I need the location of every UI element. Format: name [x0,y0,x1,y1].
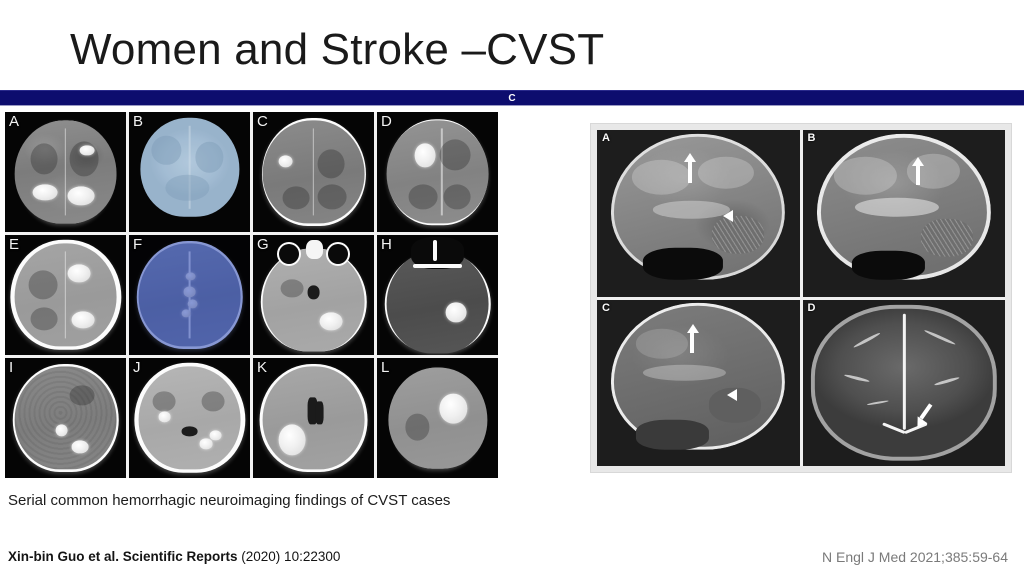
sulcus-icon [409,184,438,209]
transverse-sinus-icon [882,422,906,434]
brain-parenchyma [262,120,365,223]
petrous-bone-icon [413,264,461,268]
skull-base-region [636,420,709,449]
page-title: Women and Stroke –CVST [70,24,604,77]
sulcus-icon [281,279,304,298]
ct-panel-g: G [253,235,374,355]
ct-panel-grid: A B C [5,112,498,478]
brain-parenchyma [138,366,241,469]
arrowhead-icon [723,210,733,222]
gyrus-icon [698,157,754,189]
sulcus-icon [31,143,58,174]
sulcus-icon [318,149,345,178]
ct-panel-h-label: H [381,236,392,253]
brain-parenchyma [14,120,117,223]
sagittal-head [817,133,991,280]
mri-panel-grid: A B [597,130,1005,466]
gyrus-icon [834,157,897,195]
ct-panel-k-label: K [257,359,267,376]
corpus-callosum-icon [643,364,727,380]
sulcus-icon [28,270,57,299]
mri-panel-c-label: C [602,302,610,314]
cerebellum-icon [712,215,764,253]
superior-sagittal-sinus-icon [903,314,906,430]
hemorrhage-region [210,430,221,440]
ct-panel-b: B [129,112,250,232]
hemorrhage-region [446,302,467,323]
arrowhead-icon [727,389,737,401]
citation-left-bold: Xin-bin Guo et al. Scientific Reports [8,549,238,564]
ct-panel-a-label: A [9,113,19,130]
ventricle-region [307,285,319,299]
brain-parenchyma [262,366,365,469]
venogram-region [811,305,997,462]
ct-panel-f: F [129,235,250,355]
midline-icon [441,129,443,216]
blue-window-overlay [129,235,250,355]
arrow-shaft [916,163,920,185]
ct-panel-g-label: G [257,236,269,253]
sulcus-icon [283,186,310,209]
ct-panel-d-label: D [381,113,392,130]
cortical-vein-icon [934,376,960,386]
skull-base-region [643,248,723,280]
citation-left-plain: (2020) 10:22300 [238,549,341,564]
ct-panel-l-label: L [381,359,389,376]
cortical-vein-icon [844,373,870,382]
midline-icon [65,252,67,339]
sulcus-icon [152,391,175,412]
hemorrhage-region [439,394,467,424]
hemorrhage-region [72,312,95,329]
ct-panel-l: L [377,358,498,478]
ct-panel-k: K [253,358,374,478]
hemorrhage-region [279,155,293,167]
citation-left: Xin-bin Guo et al. Scientific Reports (2… [8,549,340,564]
hemorrhage-region [68,264,91,283]
sulcus-icon [70,385,95,406]
ct-panel-e-label: E [9,236,19,253]
hemorrhage-region [72,441,88,453]
mri-panel-b: B [803,130,1006,297]
ct-panel-j-label: J [133,359,141,376]
arrow-shaft [690,331,694,353]
ct-panel-j: J [129,358,250,478]
orbit-icon [326,242,350,266]
ct-panel-f-label: F [133,236,142,253]
hemorrhage-region [415,143,436,168]
midline-icon [313,129,315,216]
midline-icon [65,129,67,216]
mri-panel-a: A [597,130,800,297]
sulcus-icon [444,184,471,209]
ct-panel-i: I [5,358,126,478]
mri-panel-b-label: B [808,132,816,144]
slide-canvas: Women and Stroke –CVST C A B [0,0,1024,576]
brain-parenchyma [386,120,489,223]
blue-window-overlay [129,112,250,232]
citation-right: N Engl J Med 2021;385:59-64 [822,549,1008,565]
ct-panel-b-label: B [133,113,143,130]
mri-panel-d-label: D [808,302,816,314]
hemorrhage-region [33,184,58,201]
crista-galli-icon [433,240,437,262]
hemorrhage-region [200,439,212,449]
cortical-vein-icon [853,332,881,349]
corpus-callosum-icon [855,198,939,217]
sulcus-icon [440,139,471,170]
gyrus-icon [636,329,688,358]
cortical-vein-icon [866,400,888,406]
hemorrhage-region [159,412,171,422]
sulcus-icon [406,414,430,440]
sulcus-icon [318,184,347,209]
section-band: C [0,90,1024,106]
ct-panel-c-label: C [257,113,268,130]
gyrus-icon [632,160,691,195]
sagittal-head [611,133,785,280]
ct-panel-a: A [5,112,126,232]
ventricle-region [316,401,324,424]
nasal-septum-icon [306,240,323,259]
ct-figure-caption: Serial common hemorrhagic neuroimaging f… [8,492,450,509]
brain-parenchyma [388,368,487,469]
brain-parenchyma [262,248,365,351]
ct-panel-c: C [253,112,374,232]
ct-panel-d: D [377,112,498,232]
arrow-shaft [688,160,692,183]
brain-parenchyma [14,243,117,346]
mri-panel-a-label: A [602,132,610,144]
ct-panel-i-label: I [9,359,13,376]
hemorrhage-region [68,186,95,205]
mri-figure: A B [590,123,1012,473]
arrow-up-icon [687,324,699,333]
arrow-up-icon [912,157,924,166]
ventricle-region [181,426,197,436]
hemorrhage-region [55,424,67,436]
corpus-callosum-icon [653,201,730,219]
ct-panel-e: E [5,235,126,355]
section-band-label: C [0,91,1024,107]
mri-panel-c: C [597,300,800,467]
cortical-vein-icon [923,329,955,345]
arrow-up-icon [684,153,696,162]
hemorrhage-region [320,312,343,331]
ct-panel-h: H [377,235,498,355]
brain-parenchyma [14,366,117,469]
hemorrhage-region [279,424,306,455]
skull-base-region [852,251,925,280]
sulcus-icon [31,307,58,330]
mri-panel-d: D [803,300,1006,467]
sulcus-icon [202,391,225,412]
cerebellum-icon [921,218,973,256]
